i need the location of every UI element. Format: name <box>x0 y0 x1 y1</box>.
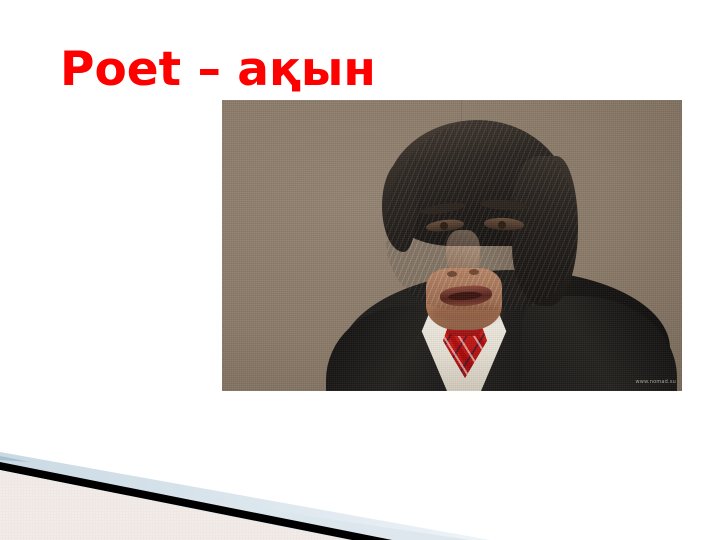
nostril-left <box>447 271 457 277</box>
hair-right-side <box>512 156 578 306</box>
decor-edge-highlight <box>0 456 30 462</box>
page-title: Poet – ақын <box>60 46 376 93</box>
hair-left-side <box>382 160 418 252</box>
decor-blue-band-lower <box>0 470 470 540</box>
decor-dot-texture <box>0 470 348 540</box>
slide-canvas: Poet – ақын www.n <box>0 0 720 540</box>
pupil-right <box>498 221 506 229</box>
slide-decoration <box>0 440 720 540</box>
pupil-left <box>440 222 448 230</box>
nostril-right <box>469 269 479 275</box>
decor-black-wedge <box>0 462 392 540</box>
photo-watermark: www.nomad.su <box>636 379 677 385</box>
decor-blue-band <box>0 452 490 540</box>
chin-shading <box>430 304 502 322</box>
portrait-photo: www.nomad.su <box>222 100 682 391</box>
